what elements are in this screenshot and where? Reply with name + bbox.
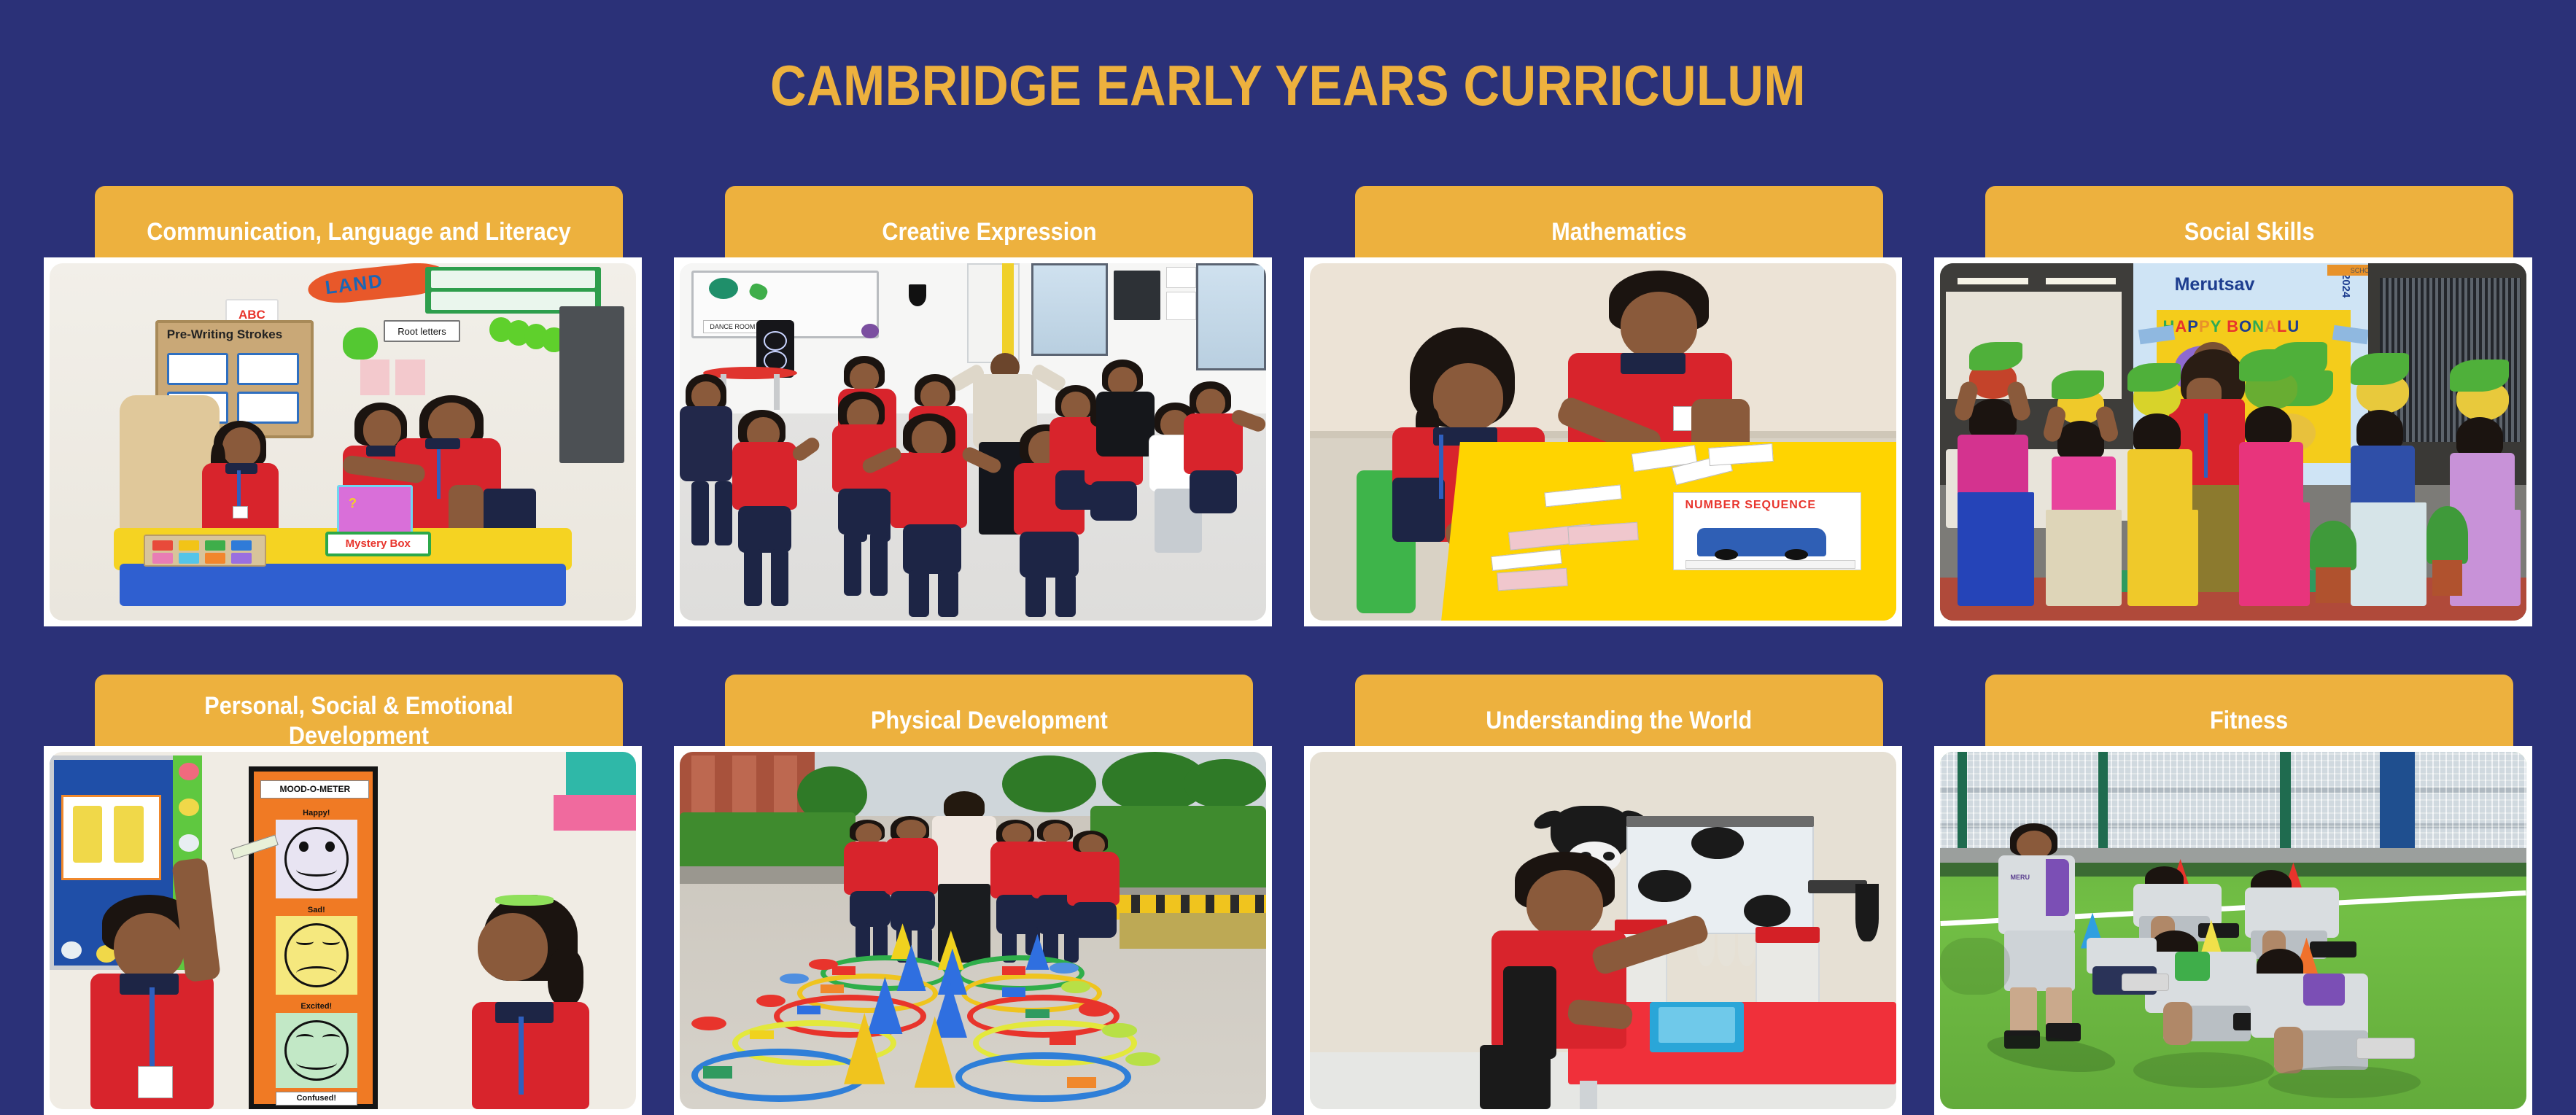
card-label: Personal, Social & Emotional Development <box>121 691 597 752</box>
card-label: Communication, Language and Literacy <box>135 217 583 247</box>
card-photo-frame: MERU <box>1934 746 2532 1115</box>
card-photo-frame <box>674 746 1272 1115</box>
photo-fitness: MERU <box>1940 752 2526 1109</box>
photo-creative-expression: DANCE ROOM <box>680 263 1266 621</box>
card-photo-frame: Merutsav 2024 SCHOOL HAPPY BONALU <box>1934 257 2532 626</box>
curriculum-card-mathematics[interactable]: Mathematics <box>1304 186 1902 626</box>
card-photo-frame <box>1304 746 1902 1115</box>
photo-social-skills: Merutsav 2024 SCHOOL HAPPY BONALU <box>1940 263 2526 621</box>
curriculum-grid: Communication, Language and Literacy LAN… <box>44 186 2532 1115</box>
curriculum-card-physical-development[interactable]: Physical Development <box>674 675 1272 1115</box>
curriculum-card-personal-social-emotional-development[interactable]: Personal, Social & Emotional Development <box>44 675 642 1115</box>
curriculum-card-fitness[interactable]: Fitness MERU <box>1934 675 2532 1115</box>
curriculum-card-understanding-the-world[interactable]: Understanding the World <box>1304 675 1902 1115</box>
card-photo-frame: DANCE ROOM <box>674 257 1272 626</box>
curriculum-card-creative-expression[interactable]: Creative Expression DANCE ROOM <box>674 186 1272 626</box>
photo-personal-social-emotional-development: MOOD-O-METER Happy! Sad! Excited! <box>50 752 636 1109</box>
card-label: Fitness <box>2198 706 2300 736</box>
card-label: Physical Development <box>858 706 1119 736</box>
page-title: CAMBRIDGE EARLY YEARS CURRICULUM <box>155 0 2421 114</box>
card-photo-frame: NUMBER SEQUENCE <box>1304 257 1902 626</box>
card-photo-frame: MOOD-O-METER Happy! Sad! Excited! <box>44 746 642 1115</box>
card-label: Understanding the World <box>1474 706 1764 736</box>
card-photo-frame: LAND ABC Pre-Writing Strokes Root letter… <box>44 257 642 626</box>
curriculum-card-social-skills[interactable]: Social Skills Merutsav 2024 SCHOOL HAPPY… <box>1934 186 2532 626</box>
card-label: Creative Expression <box>870 217 1109 247</box>
photo-communication-language-literacy: LAND ABC Pre-Writing Strokes Root letter… <box>50 263 636 621</box>
photo-mathematics: NUMBER SEQUENCE <box>1310 263 1896 621</box>
card-label: Mathematics <box>1540 217 1699 247</box>
card-label: Social Skills <box>2172 217 2326 247</box>
curriculum-card-communication-language-literacy[interactable]: Communication, Language and Literacy LAN… <box>44 186 642 626</box>
photo-physical-development <box>680 752 1266 1109</box>
photo-understanding-the-world <box>1310 752 1896 1109</box>
